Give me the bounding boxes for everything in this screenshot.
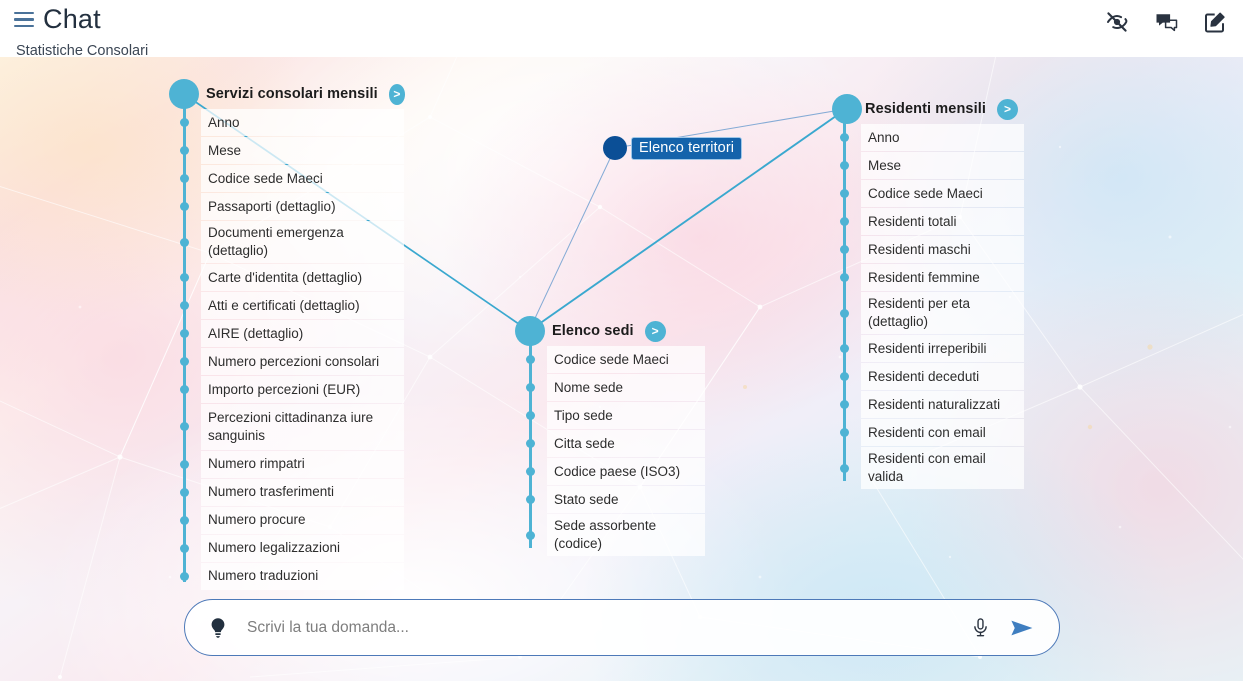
field-row[interactable]: Numero trasferimenti [183, 478, 404, 506]
field-dot [526, 411, 535, 420]
field-label[interactable]: Residenti con email [861, 419, 1024, 446]
field-dot [840, 372, 849, 381]
field-dot [180, 422, 189, 431]
field-dot [180, 202, 189, 211]
field-label[interactable]: Numero trasferimenti [201, 479, 404, 506]
field-dot [180, 572, 189, 581]
entity-graph[interactable]: Servizi consolari mensili > Anno Mese Co… [0, 57, 1243, 681]
field-dot [526, 495, 535, 504]
field-row[interactable]: Anno [843, 124, 1024, 152]
field-row[interactable]: Numero percezioni consolari [183, 348, 404, 376]
field-label[interactable]: Numero legalizzazioni [201, 535, 404, 562]
field-label[interactable]: Atti e certificati (dettaglio) [201, 292, 404, 319]
field-label[interactable]: Codice sede Maeci [547, 346, 705, 373]
field-label[interactable]: Residenti per eta (dettaglio) [861, 292, 1024, 334]
field-row[interactable]: Codice sede Maeci [183, 165, 404, 193]
field-dot [526, 355, 535, 364]
field-label[interactable]: Percezioni cittadinanza iure sanguinis [201, 404, 404, 450]
field-row[interactable]: Anno [183, 109, 404, 137]
expand-node-button[interactable]: > [389, 84, 405, 105]
field-label[interactable]: Anno [201, 109, 404, 136]
field-row[interactable]: Passaporti (dettaglio) [183, 193, 404, 221]
field-label[interactable]: Importo percezioni (EUR) [201, 376, 404, 403]
header-actions [1103, 8, 1229, 36]
field-row[interactable]: Codice sede Maeci [843, 180, 1024, 208]
microphone-icon[interactable] [965, 613, 995, 643]
field-dot [180, 146, 189, 155]
field-row[interactable]: Atti e certificati (dettaglio) [183, 292, 404, 320]
expand-node-button[interactable]: > [997, 99, 1018, 120]
hamburger-menu-icon[interactable] [14, 10, 34, 30]
field-list: Codice sede Maeci Nome sede Tipo sede Ci… [529, 346, 705, 556]
field-dot [526, 531, 535, 540]
field-dot [840, 189, 849, 198]
field-dot [840, 133, 849, 142]
field-row[interactable]: Sede assorbente (codice) [529, 514, 705, 556]
field-row[interactable]: Carte d'identita (dettaglio) [183, 264, 404, 292]
title-row: Chat [14, 6, 101, 33]
field-row[interactable]: Residenti irreperibili [843, 335, 1024, 363]
field-dot [526, 467, 535, 476]
node-header[interactable]: Residenti mensili > [832, 94, 1024, 124]
field-dot [840, 273, 849, 282]
field-label[interactable]: Residenti con email valida [861, 447, 1024, 489]
field-row[interactable]: Residenti naturalizzati [843, 391, 1024, 419]
node-title[interactable]: Elenco territori [631, 137, 742, 160]
field-row[interactable]: Tipo sede [529, 402, 705, 430]
field-row[interactable]: Numero rimpatri [183, 450, 404, 478]
field-label[interactable]: Mese [201, 137, 404, 164]
field-label[interactable]: Codice sede Maeci [201, 165, 404, 192]
field-row[interactable]: Mese [183, 137, 404, 165]
field-dot [180, 238, 189, 247]
field-label[interactable]: Numero percezioni consolari [201, 348, 404, 375]
node-title: Elenco sedi [552, 323, 634, 339]
field-row[interactable]: Importo percezioni (EUR) [183, 376, 404, 404]
node-dot [832, 94, 862, 124]
node-header[interactable]: Elenco sedi > [515, 316, 705, 346]
field-label[interactable]: Numero rimpatri [201, 451, 404, 478]
field-row[interactable]: Citta sede [529, 430, 705, 458]
send-icon[interactable] [1007, 613, 1037, 643]
compose-edit-icon[interactable] [1201, 8, 1229, 36]
field-list: Anno Mese Codice sede Maeci Passaporti (… [183, 109, 404, 590]
field-label[interactable]: Residenti irreperibili [861, 335, 1024, 362]
field-dot [840, 464, 849, 473]
field-label[interactable]: Nome sede [547, 374, 705, 401]
field-dot [180, 329, 189, 338]
field-dot [840, 161, 849, 170]
field-label[interactable]: Tipo sede [547, 402, 705, 429]
node-title: Residenti mensili [865, 101, 986, 117]
field-row[interactable]: Mese [843, 152, 1024, 180]
field-row[interactable]: Numero traduzioni [183, 562, 404, 590]
field-dot [180, 385, 189, 394]
field-label[interactable]: Residenti totali [861, 208, 1024, 235]
field-label[interactable]: Passaporti (dettaglio) [201, 193, 404, 220]
field-dot [180, 460, 189, 469]
field-row[interactable]: Codice sede Maeci [529, 346, 705, 374]
field-row[interactable]: Residenti per eta (dettaglio) [843, 292, 1024, 334]
field-dot [180, 273, 189, 282]
field-label[interactable]: AIRE (dettaglio) [201, 320, 404, 347]
field-row[interactable]: Residenti con email valida [843, 447, 1024, 489]
field-dot [180, 301, 189, 310]
field-dot [840, 428, 849, 437]
node-header[interactable]: Servizi consolari mensili > [169, 79, 405, 109]
field-row[interactable]: Percezioni cittadinanza iure sanguinis [183, 404, 404, 450]
graph-node-elenco-sedi[interactable]: Elenco sedi > Codice sede Maeci Nome sed… [515, 316, 705, 557]
graph-node-elenco-territori[interactable]: Elenco territori [603, 136, 742, 160]
field-dot [526, 439, 535, 448]
field-row[interactable]: Numero procure [183, 506, 404, 534]
field-label[interactable]: Documenti emergenza (dettaglio) [201, 221, 404, 263]
node-title: Servizi consolari mensili [206, 86, 378, 102]
app-header: Chat Statistiche Consolari [0, 0, 1243, 57]
field-dot [180, 544, 189, 553]
field-dot [180, 174, 189, 183]
field-label[interactable]: Codice paese (ISO3) [547, 458, 705, 485]
field-dot [840, 245, 849, 254]
field-dot [840, 309, 849, 318]
field-dot [180, 118, 189, 127]
field-label[interactable]: Sede assorbente (codice) [547, 514, 705, 556]
field-dot [840, 344, 849, 353]
node-dot [603, 136, 627, 160]
field-label[interactable]: Stato sede [547, 486, 705, 513]
field-dot [840, 217, 849, 226]
chat-bubbles-icon[interactable] [1152, 8, 1180, 36]
expand-node-button[interactable]: > [645, 321, 666, 342]
field-label[interactable]: Codice sede Maeci [861, 180, 1024, 207]
field-label[interactable]: Numero traduzioni [201, 563, 404, 590]
field-dot [180, 488, 189, 497]
field-dot [840, 400, 849, 409]
field-dot [180, 357, 189, 366]
field-label[interactable]: Mese [861, 152, 1024, 179]
field-row[interactable]: Residenti maschi [843, 236, 1024, 264]
field-label[interactable]: Numero procure [201, 507, 404, 534]
field-row[interactable]: Residenti femmine [843, 264, 1024, 292]
field-dot [526, 383, 535, 392]
lightbulb-icon [205, 615, 231, 641]
eye-slash-icon[interactable] [1103, 8, 1131, 36]
field-label[interactable]: Anno [861, 124, 1024, 151]
page-subtitle: Statistiche Consolari [16, 43, 148, 59]
field-list: Anno Mese Codice sede Maeci Residenti to… [843, 124, 1024, 489]
field-label[interactable]: Carte d'identita (dettaglio) [201, 264, 404, 291]
page-title: Chat [43, 6, 101, 33]
field-row[interactable]: Documenti emergenza (dettaglio) [183, 221, 404, 263]
field-row[interactable]: Codice paese (ISO3) [529, 458, 705, 486]
field-row[interactable]: Stato sede [529, 486, 705, 514]
graph-node-servizi-consolari-mensili[interactable]: Servizi consolari mensili > Anno Mese Co… [169, 79, 405, 590]
field-row[interactable]: Residenti totali [843, 208, 1024, 236]
field-row[interactable]: AIRE (dettaglio) [183, 320, 404, 348]
field-label[interactable]: Residenti femmine [861, 264, 1024, 291]
node-header[interactable]: Elenco territori [603, 136, 742, 160]
field-row[interactable]: Residenti deceduti [843, 363, 1024, 391]
field-label[interactable]: Citta sede [547, 430, 705, 457]
field-row[interactable]: Numero legalizzazioni [183, 534, 404, 562]
edge-sedi-territori [529, 148, 615, 331]
field-row[interactable]: Nome sede [529, 374, 705, 402]
chat-input[interactable] [245, 618, 965, 638]
field-label[interactable]: Residenti naturalizzati [861, 391, 1024, 418]
field-label[interactable]: Residenti deceduti [861, 363, 1024, 390]
chat-composer[interactable] [184, 599, 1060, 656]
field-label[interactable]: Residenti maschi [861, 236, 1024, 263]
field-row[interactable]: Residenti con email [843, 419, 1024, 447]
field-dot [180, 516, 189, 525]
graph-node-residenti-mensili[interactable]: Residenti mensili > Anno Mese Codice sed… [832, 94, 1024, 490]
